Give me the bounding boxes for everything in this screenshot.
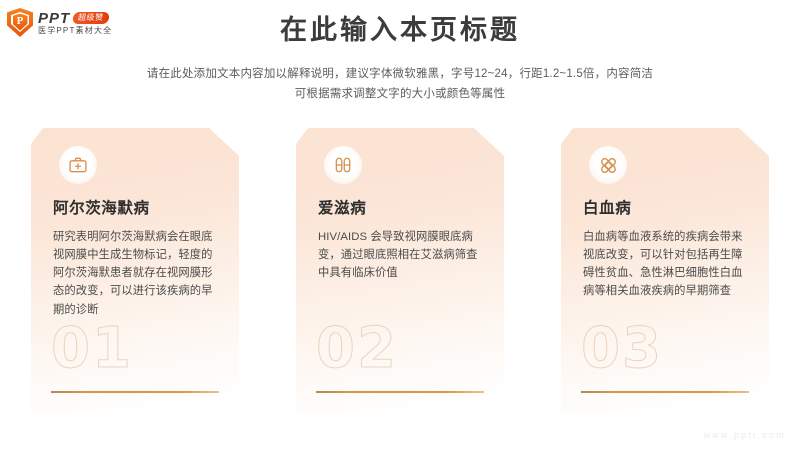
card-aids[interactable]: 爱滋病 HIV/AIDS 会导致视网膜眼底病变，通过眼底照相在艾滋病筛查中具有临… [296,128,504,413]
subtitle-line-1: 请在此处添加文本内容加以解释说明，建议字体微软雅黑，字号12~24，行距1.2~… [0,64,800,84]
crossed-bandages-icon [589,146,627,184]
card-body: 白血病等血液系统的疾病会带来视底改变，可以针对包括再生障碍性贫血、急性淋巴细胞性… [583,228,747,301]
card-heading: 阿尔茨海默病 [53,200,217,219]
first-aid-kit-icon [59,146,97,184]
site-watermark: www.pptr.com [704,430,786,440]
card-heading: 白血病 [583,200,747,219]
card-number: 03 [581,321,663,377]
card-body: 研究表明阿尔茨海默病会在眼底视网膜中生成生物标记，轻度的阿尔茨海默患者就存在视网… [53,228,217,319]
card-body: HIV/AIDS 会导致视网膜眼底病变，通过眼底照相在艾滋病筛查中具有临床价值 [318,228,482,283]
card-rule [51,391,219,393]
card-rule [316,391,484,393]
page-subtitle: 请在此处添加文本内容加以解释说明，建议字体微软雅黑，字号12~24，行距1.2~… [0,64,800,104]
capsule-pills-icon [324,146,362,184]
card-number: 02 [316,321,398,377]
card-leukemia[interactable]: 白血病 白血病等血液系统的疾病会带来视底改变，可以针对包括再生障碍性贫血、急性淋… [561,128,769,413]
card-number: 01 [51,321,133,377]
page-title: 在此输入本页标题 [0,14,800,46]
subtitle-line-2: 可根据需求调整文字的大小或颜色等属性 [0,84,800,104]
card-heading: 爱滋病 [318,200,482,219]
card-alzheimers[interactable]: 阿尔茨海默病 研究表明阿尔茨海默病会在眼底视网膜中生成生物标记，轻度的阿尔茨海默… [31,128,239,413]
card-list: 阿尔茨海默病 研究表明阿尔茨海默病会在眼底视网膜中生成生物标记，轻度的阿尔茨海默… [0,128,800,418]
card-rule [581,391,749,393]
